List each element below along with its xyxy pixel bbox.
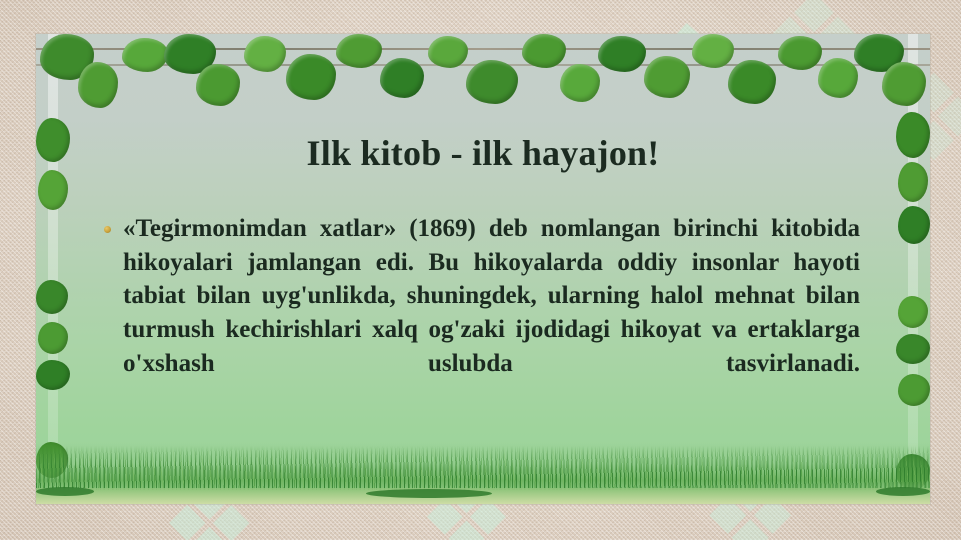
slide-content: Ilk kitob - ilk hayajon! «Tegirmonimdan …	[36, 34, 930, 504]
slide-canvas: ❖ ❖ ❖ ❖ ❖ ❖ ❖ ❖ ❖	[0, 0, 961, 540]
bullet-list: «Tegirmonimdan xatlar» (1869) deb nomlan…	[96, 212, 870, 414]
bullet-paragraph: «Tegirmonimdan xatlar» (1869) deb nomlan…	[123, 212, 860, 414]
presentation-slide: Ilk kitob - ilk hayajon! «Tegirmonimdan …	[36, 34, 930, 504]
page-title: Ilk kitob - ilk hayajon!	[96, 132, 870, 174]
bullet-dot-icon	[104, 226, 111, 233]
list-item: «Tegirmonimdan xatlar» (1869) deb nomlan…	[104, 212, 860, 414]
